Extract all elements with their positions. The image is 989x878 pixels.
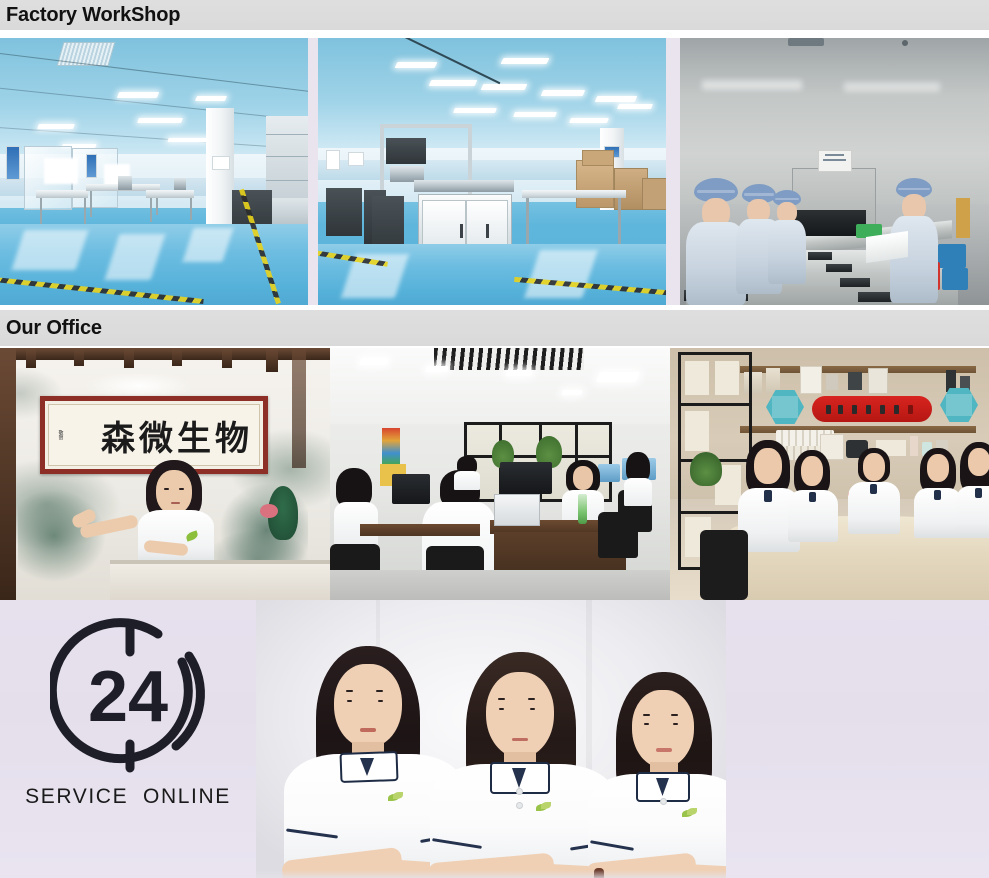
office-photo-meeting-room — [670, 348, 989, 600]
office-photo-row: 敬贺 森微生物 — [0, 348, 989, 600]
meeting-attendee — [848, 448, 900, 534]
service-banner: 24 SERVICE ONLINE — [0, 600, 989, 878]
factory-worker — [768, 190, 806, 284]
plaque-side-text: 敬贺 — [49, 430, 63, 440]
wall-notice-sign — [818, 150, 852, 172]
service-online-caption: SERVICE ONLINE — [0, 785, 256, 809]
office-staff — [624, 452, 652, 506]
company-leaf-logo — [388, 792, 404, 804]
office-photo-openplan — [330, 348, 670, 600]
factory-photo-production-line — [318, 38, 666, 305]
factory-photo-assembly-workers — [680, 38, 989, 305]
office-staff — [454, 456, 480, 490]
office-photo-reception: 敬贺 森微生物 — [0, 348, 330, 600]
product-display-red — [812, 396, 932, 422]
factory-photo-row — [0, 38, 989, 305]
customer-service-team-photo — [256, 600, 726, 878]
section-header-factory: Factory WorkShop — [0, 0, 989, 30]
factory-photo-cleanroom — [0, 38, 308, 305]
marketing-page: Factory WorkShop — [0, 0, 989, 878]
company-leaf-logo — [682, 808, 698, 820]
meeting-attendee — [788, 450, 838, 542]
company-leaf-logo — [536, 802, 552, 814]
clock-number: 24 — [88, 657, 168, 737]
page-title-factory: Factory WorkShop — [0, 5, 180, 25]
page-title-office: Our Office — [0, 318, 102, 338]
meeting-attendee — [914, 448, 962, 538]
service-online-block: 24 SERVICE ONLINE — [0, 600, 256, 878]
plaque-main-text: 森微生物 — [101, 411, 259, 460]
24-hour-clock-icon: 24 — [50, 618, 210, 778]
section-header-office: Our Office — [0, 310, 989, 346]
service-staff-right — [586, 672, 726, 878]
meeting-attendee — [956, 442, 989, 538]
reception-staff — [128, 460, 224, 564]
